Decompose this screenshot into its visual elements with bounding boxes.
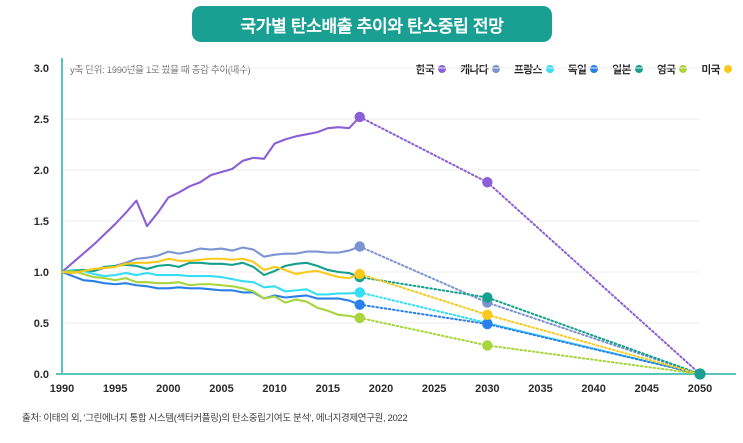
series-projection-독일: [360, 305, 700, 374]
data-point-net-zero-2050: [694, 368, 705, 379]
x-tick-label: 2025: [422, 383, 446, 395]
y-tick-label: 0.0: [34, 369, 49, 381]
x-tick-labels: 1990199520002005201020152020202520302035…: [50, 383, 712, 395]
y-tick-labels: 0.00.51.01.52.02.53.0: [34, 63, 49, 381]
x-tick-label: 2035: [528, 383, 552, 395]
series-projection-캐나다: [360, 247, 700, 375]
x-tick-label: 2010: [262, 383, 286, 395]
x-tick-label: 2020: [369, 383, 393, 395]
x-tick-label: 2030: [475, 383, 499, 395]
data-point-프랑스-2018: [355, 287, 365, 297]
data-point-한국-2030: [482, 177, 492, 187]
data-point-영국-2030: [482, 340, 492, 350]
y-tick-label: 3.0: [34, 63, 49, 75]
y-tick-label: 1.5: [34, 216, 49, 228]
x-tick-label: 1995: [103, 383, 127, 395]
data-point-독일-2018: [355, 299, 365, 309]
x-tick-label: 2000: [156, 383, 180, 395]
data-point-미국-2018: [355, 269, 365, 279]
x-tick-label: 2005: [209, 383, 233, 395]
y-tick-label: 2.5: [34, 114, 49, 126]
x-tick-label: 2050: [688, 383, 712, 395]
data-point-일본-2030: [482, 292, 492, 302]
data-point-독일-2030: [482, 319, 492, 329]
chart-plot: 0.00.51.01.52.02.53.0 199019952000200520…: [0, 0, 743, 443]
data-point-미국-2030: [482, 310, 492, 320]
series-line-프랑스: [62, 270, 360, 294]
grid-lines: [62, 68, 700, 323]
data-point-한국-2018: [355, 112, 365, 122]
series-projection-한국: [360, 117, 700, 374]
y-tick-label: 2.0: [34, 165, 49, 177]
data-point-영국-2018: [355, 313, 365, 323]
data-point-markers: [355, 112, 706, 380]
x-tick-label: 2045: [635, 383, 659, 395]
x-tick-label: 2040: [581, 383, 605, 395]
chart-page: 국가별 탄소배출 추이와 탄소중립 전망 y축 단위: 1990년을 1로 봤을…: [0, 0, 743, 443]
data-point-캐나다-2018: [355, 241, 365, 251]
x-tick-label: 1990: [50, 383, 74, 395]
series-projection-미국: [360, 274, 700, 374]
y-tick-label: 1.0: [34, 267, 49, 279]
y-tick-label: 0.5: [34, 318, 49, 330]
x-tick-label: 2015: [316, 383, 340, 395]
data-series: [62, 117, 700, 374]
source-note: 출처: 이태의 외, '그린에너지 통합 시스템(섹터커플링)의 탄소중립기여도…: [22, 410, 407, 424]
